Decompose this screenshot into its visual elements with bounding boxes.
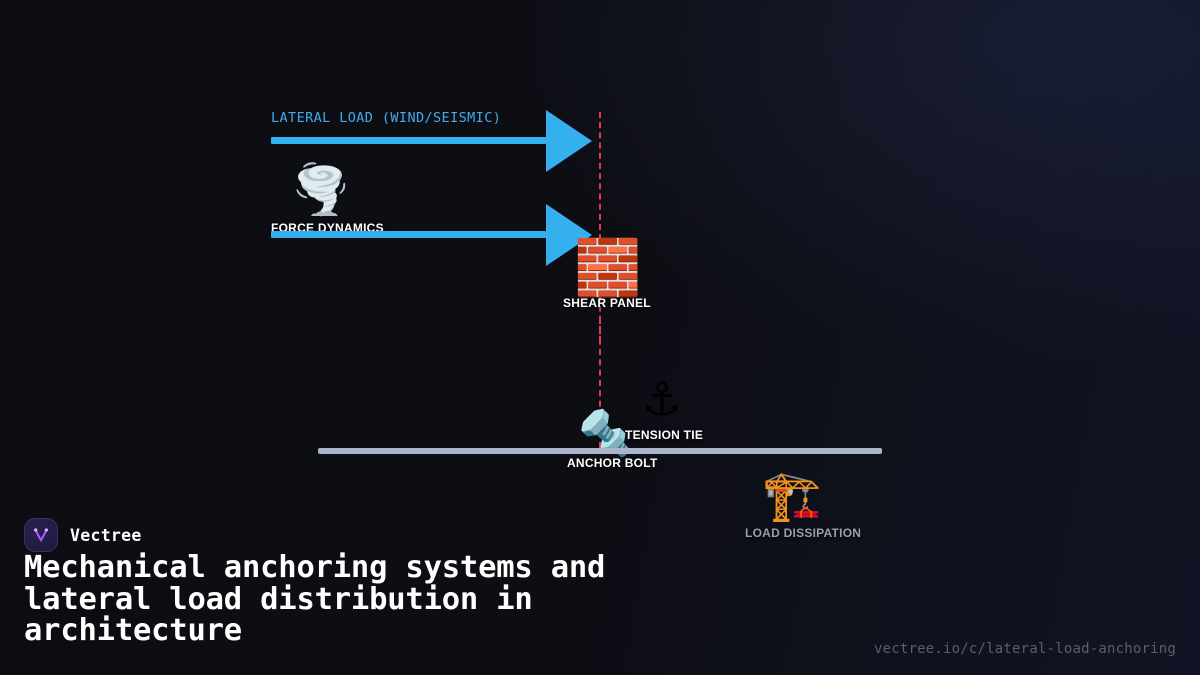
load-arrow-upper-shaft (271, 137, 546, 144)
load-arrow-lower-shaft (271, 231, 546, 238)
vectree-v-logo-icon (24, 518, 58, 552)
poster-canvas: LATERAL LOAD (WIND/SEISMIC) 🌪️ FORCE DYN… (0, 0, 1200, 675)
shear-panel-label: SHEAR PANEL (563, 296, 651, 310)
poster-footer: Vectree Mechanical anchoring systems and… (0, 510, 1200, 675)
brand-name: Vectree (70, 526, 142, 545)
page-title: Mechanical anchoring systems and lateral… (24, 552, 744, 647)
foundation-line (318, 448, 882, 454)
load-arrow-upper-head (546, 110, 592, 172)
lateral-load-annotation: LATERAL LOAD (WIND/SEISMIC) (271, 110, 501, 126)
tension-tie-label: TENSION TIE (625, 428, 703, 442)
site-url: vectree.io/c/lateral-load-anchoring (874, 641, 1176, 657)
brand-row: Vectree (24, 518, 142, 552)
tornado-icon: 🌪️ (291, 166, 351, 214)
anchor-bolt-label: ANCHOR BOLT (567, 456, 658, 470)
brick-wall-icon: 🧱 (574, 241, 641, 295)
anchor-icon: ⚓ (641, 376, 682, 422)
